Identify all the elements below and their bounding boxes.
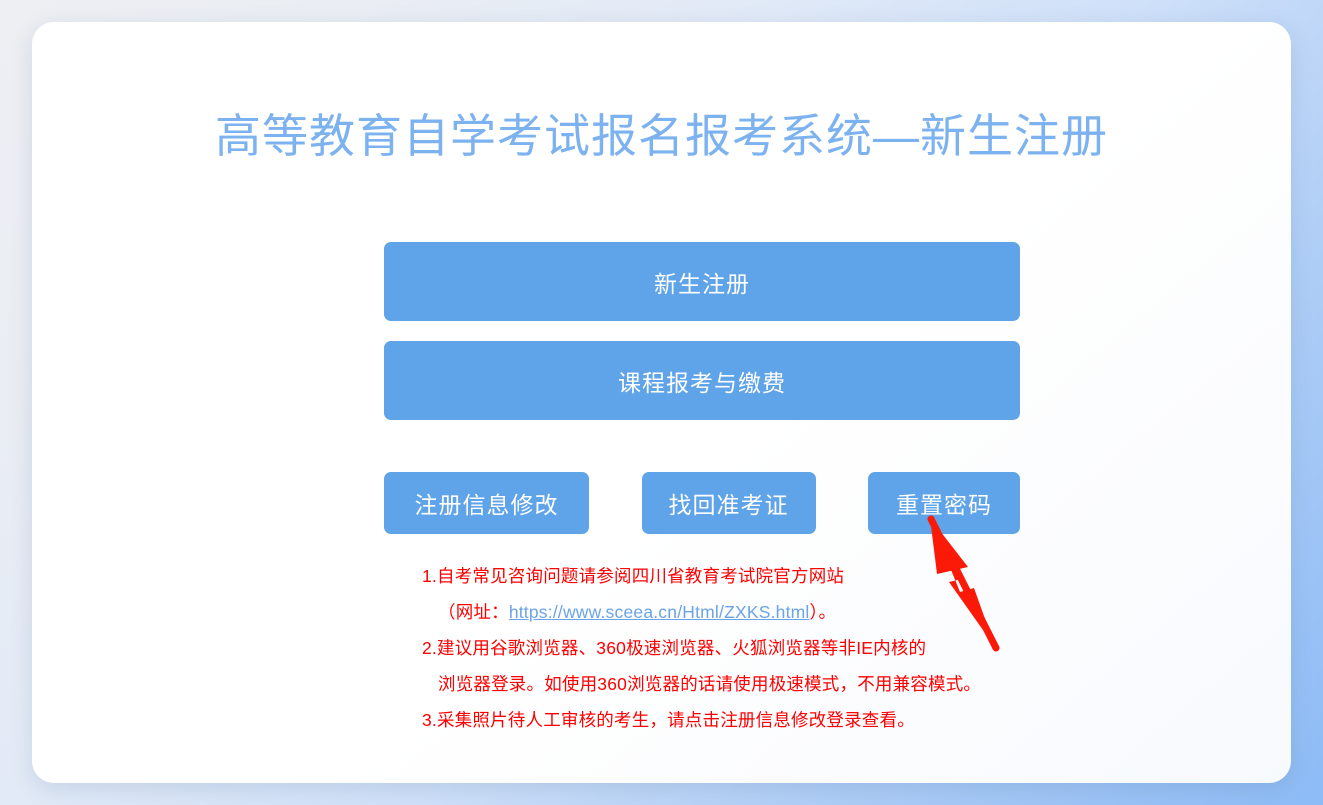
button-spacer (384, 321, 1020, 341)
notice-line-4: 浏览器登录。如使用360浏览器的话请使用极速模式，不用兼容模式。 (422, 666, 1042, 702)
register-new-student-button[interactable]: 新生注册 (384, 242, 1020, 321)
course-registration-payment-button[interactable]: 课程报考与缴费 (384, 341, 1020, 420)
main-card: 高等教育自学考试报名报考系统—新生注册 新生注册 课程报考与缴费 注册信息修改 … (32, 22, 1291, 783)
retrieve-exam-ticket-button[interactable]: 找回准考证 (642, 472, 816, 534)
notice-url-prefix: （网址： (438, 602, 509, 622)
sceea-website-link[interactable]: https://www.sceea.cn/Html/ZXKS.html (509, 602, 810, 622)
notice-line-2: （网址：https://www.sceea.cn/Html/ZXKS.html）… (422, 594, 1042, 630)
notice-block: 1.自考常见咨询问题请参阅四川省教育考试院官方网站 （网址：https://ww… (422, 558, 1042, 738)
reset-password-button[interactable]: 重置密码 (868, 472, 1020, 534)
notice-line-3: 2.建议用谷歌浏览器、360极速浏览器、火狐浏览器等非IE内核的 (422, 630, 1042, 666)
notice-url-suffix: ）。 (810, 602, 837, 622)
secondary-action-row: 注册信息修改 找回准考证 重置密码 (384, 472, 1020, 534)
primary-action-stack: 新生注册 课程报考与缴费 (384, 242, 1020, 420)
edit-registration-info-button[interactable]: 注册信息修改 (384, 472, 589, 534)
page-title: 高等教育自学考试报名报考系统—新生注册 (32, 106, 1291, 166)
notice-line-1: 1.自考常见咨询问题请参阅四川省教育考试院官方网站 (422, 558, 1042, 594)
notice-line-5: 3.采集照片待人工审核的考生，请点击注册信息修改登录查看。 (422, 702, 1042, 738)
